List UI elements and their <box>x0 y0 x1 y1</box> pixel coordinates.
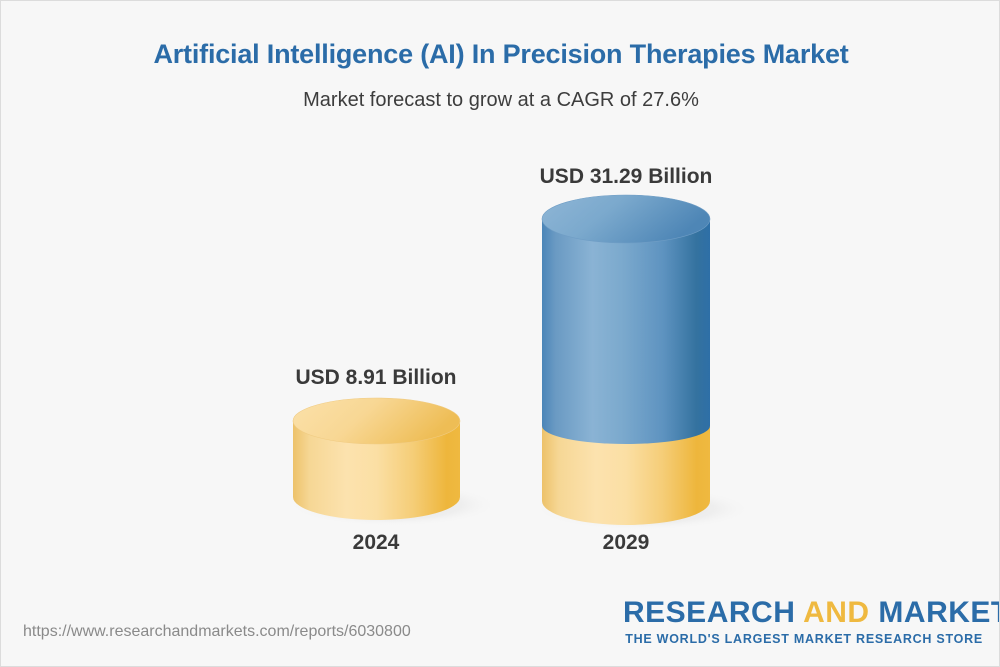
bar-2029 <box>531 195 755 531</box>
logo-text-markets: MARKETS <box>870 596 1000 629</box>
chart-image: Artificial Intelligence (AI) In Precisio… <box>0 0 1000 667</box>
bar-2024-top <box>293 398 460 444</box>
chart-plot-area <box>1 1 1000 667</box>
logo-text-and: AND <box>803 596 870 629</box>
bar-2024 <box>285 398 501 527</box>
logo-tagline: THE WORLD'S LARGEST MARKET RESEARCH STOR… <box>623 632 983 646</box>
brand-logo: RESEARCH AND MARKETS THE WORLD'S LARGEST… <box>623 597 983 646</box>
bar-2029-segment-growth <box>542 219 710 444</box>
bar-2029-top <box>542 195 710 243</box>
source-url[interactable]: https://www.researchandmarkets.com/repor… <box>23 623 411 641</box>
bar-2029-value-label: USD 31.29 Billion <box>476 165 776 189</box>
bar-2024-value-label: USD 8.91 Billion <box>226 366 526 390</box>
logo-wordmark: RESEARCH AND MARKETS <box>623 597 983 629</box>
bar-2029-category-label: 2029 <box>476 531 776 555</box>
logo-text-research: RESEARCH <box>623 596 803 629</box>
